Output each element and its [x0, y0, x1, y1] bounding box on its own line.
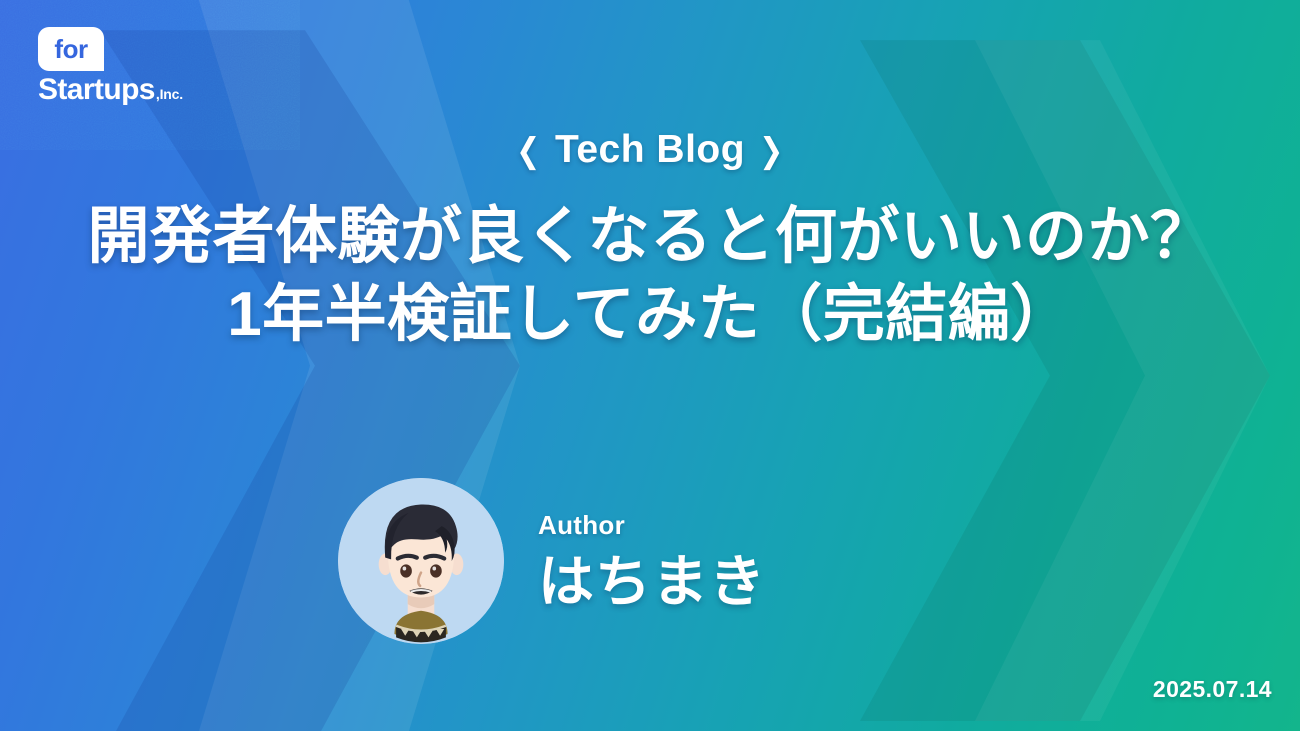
- logo-name-main: Startups: [38, 74, 155, 106]
- chevron-right-icon: ❯: [759, 131, 784, 171]
- brand-logo: for Startups ,Inc.: [38, 27, 208, 106]
- title-line-1: 開発者体験が良くなると何がいいのか？: [0, 198, 1300, 276]
- author-block: Author はちまき: [338, 478, 766, 644]
- category-kicker: ❮Tech Blog❯: [0, 128, 1300, 172]
- author-name: はちまき: [538, 554, 766, 610]
- page-title: 開発者体験が良くなると何がいいのか？ 1年半検証してみた（完結編）: [0, 198, 1300, 354]
- chevron-shape-right: [800, 0, 1270, 731]
- kicker-label: Tech Blog: [555, 128, 745, 171]
- author-label: Author: [538, 512, 766, 538]
- blog-cover-card: for Startups ,Inc. ❮Tech Blog❯ 開発者体験が良くな…: [0, 0, 1300, 731]
- title-line-2: 1年半検証してみた（完結編）: [0, 276, 1300, 354]
- chevron-left-icon: ❮: [516, 131, 541, 171]
- logo-badge: for: [38, 27, 104, 71]
- publish-date: 2025.07.14: [1153, 676, 1272, 703]
- author-meta: Author はちまき: [538, 512, 766, 610]
- logo-wordmark: Startups ,Inc.: [38, 74, 208, 106]
- avatar: [338, 478, 504, 644]
- logo-badge-text: for: [54, 36, 87, 62]
- logo-name-suffix: ,Inc.: [156, 86, 183, 102]
